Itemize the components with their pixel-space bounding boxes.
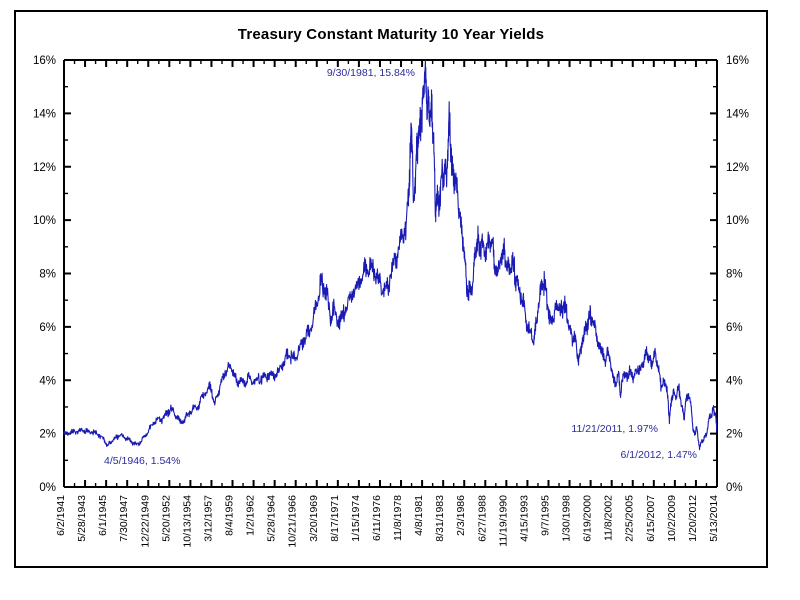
x-axis-tick-label: 10/21/1966 — [287, 495, 299, 548]
x-axis-tick-label: 1/15/1974 — [350, 495, 362, 542]
chart-page: Treasury Constant Maturity 10 Year Yield… — [0, 0, 800, 600]
x-axis-tick-label: 1/20/2012 — [687, 495, 699, 542]
x-axis-tick-label: 11/8/1978 — [392, 495, 404, 541]
x-axis-tick-label: 8/4/1959 — [224, 495, 236, 536]
y-axis-tick-label-left: 6% — [39, 322, 56, 334]
x-axis-tick-label: 2/3/1986 — [455, 495, 467, 536]
x-axis-tick-label: 4/8/1981 — [413, 495, 425, 536]
y-axis-tick-label-left: 4% — [39, 375, 56, 387]
x-axis-tick-label: 10/13/1954 — [181, 495, 193, 548]
x-axis-tick-label: 9/7/1995 — [539, 495, 551, 536]
x-axis-tick-label: 10/2/2009 — [666, 495, 678, 542]
x-axis-tick-label: 5/28/1943 — [76, 495, 88, 542]
x-axis-tick-label: 6/2/1941 — [55, 495, 67, 536]
x-axis-tick-label: 11/8/2002 — [603, 495, 615, 541]
chart-annotation-label: 9/30/1981, 15.84% — [327, 67, 415, 79]
x-axis-tick-label: 6/27/1988 — [476, 495, 488, 542]
y-axis-tick-label-left: 10% — [33, 215, 56, 227]
x-axis-tick-label: 3/12/1957 — [202, 495, 214, 542]
y-axis-tick-label-left: 14% — [33, 108, 56, 120]
x-axis-tick-label: 5/20/1952 — [160, 495, 172, 542]
y-axis-tick-label-right: 0% — [726, 482, 743, 494]
treasury-yield-chart: 0%0%2%2%4%4%6%6%8%8%10%10%12%12%14%14%16… — [0, 0, 800, 600]
x-axis-tick-label: 11/19/1990 — [497, 495, 509, 547]
x-axis-tick-label: 3/20/1969 — [308, 495, 320, 542]
x-axis-tick-label: 1/2/1962 — [245, 495, 257, 536]
y-axis-tick-label-right: 6% — [726, 322, 743, 334]
x-axis-tick-label: 6/11/1976 — [371, 495, 383, 541]
x-axis-tick-label: 6/15/2007 — [645, 495, 657, 542]
x-axis-tick-label: 6/1/1945 — [97, 495, 109, 536]
chart-annotation-label: 6/1/2012, 1.47% — [621, 449, 697, 461]
chart-annotation-label: 11/21/2011, 1.97% — [571, 423, 658, 435]
x-axis-tick-label: 7/30/1947 — [118, 495, 130, 542]
y-axis-tick-label-left: 16% — [33, 55, 56, 67]
y-axis-tick-label-right: 10% — [726, 215, 749, 227]
x-axis-tick-label: 5/28/1964 — [266, 495, 278, 542]
x-axis-tick-label: 8/17/1971 — [329, 495, 341, 542]
y-axis-tick-label-right: 12% — [726, 162, 749, 174]
y-axis-tick-label-right: 14% — [726, 108, 749, 120]
y-axis-tick-label-right: 2% — [726, 429, 743, 441]
x-axis-tick-label: 6/19/2000 — [582, 495, 594, 542]
x-axis-labels: 6/2/19415/28/19436/1/19457/30/194712/22/… — [55, 495, 720, 548]
y-axis-tick-label-left: 8% — [39, 269, 56, 281]
x-axis-tick-label: 4/15/1993 — [518, 495, 530, 542]
x-axis-tick-label: 8/31/1983 — [434, 495, 446, 542]
y-axis-tick-label-right: 8% — [726, 269, 743, 281]
x-axis-tick-label: 2/25/2005 — [624, 495, 636, 542]
chart-annotation-label: 4/5/1946, 1.54% — [104, 455, 180, 467]
y-axis-tick-label-left: 12% — [33, 162, 56, 174]
y-axis-tick-label-left: 2% — [39, 429, 56, 441]
x-axis-tick-label: 12/22/1949 — [139, 495, 151, 548]
y-axis-tick-label-right: 16% — [726, 55, 749, 67]
y-axis-tick-label-left: 0% — [39, 482, 56, 494]
y-axis-tick-label-right: 4% — [726, 375, 743, 387]
x-axis-tick-label: 1/30/1998 — [561, 495, 573, 542]
x-axis-tick-label: 5/13/2014 — [708, 495, 720, 542]
